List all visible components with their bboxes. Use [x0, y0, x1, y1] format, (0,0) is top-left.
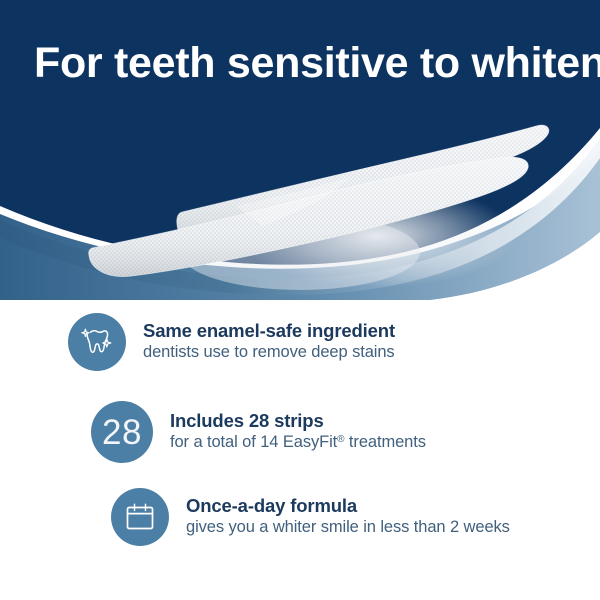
feature-title: Includes 28 strips: [170, 410, 426, 431]
hero-panel: For teeth sensitive to whitening: [0, 0, 600, 300]
tooth-sparkle-icon: [77, 322, 117, 362]
feature-text-block: Includes 28 strips for a total of 14 Eas…: [170, 410, 426, 454]
feature-title: Same enamel-safe ingredient: [143, 320, 395, 341]
feature-row: 28 Includes 28 strips for a total of 14 …: [91, 401, 426, 463]
calendar-icon-badge: [111, 488, 169, 546]
feature-row: Same enamel-safe ingredient dentists use…: [68, 313, 395, 371]
feature-text-block: Once-a-day formula gives you a whiter sm…: [186, 495, 510, 539]
feature-subtitle-pre: for a total of 14 EasyFit: [170, 433, 337, 451]
tooth-sparkle-icon-badge: [68, 313, 126, 371]
page-title: For teeth sensitive to whitening: [34, 40, 574, 86]
feature-subtitle: for a total of 14 EasyFit® treatments: [170, 432, 426, 452]
feature-subtitle-post: treatments: [344, 433, 425, 451]
strip-count-value: 28: [102, 415, 142, 450]
calendar-icon: [122, 499, 158, 535]
feature-title: Once-a-day formula: [186, 495, 510, 516]
product-feature-graphic: For teeth sensitive to whitening Same en…: [0, 0, 600, 600]
strip-count-badge: 28: [91, 401, 153, 463]
feature-row: Once-a-day formula gives you a whiter sm…: [111, 488, 510, 546]
feature-subtitle: dentists use to remove deep stains: [143, 342, 395, 362]
feature-text-block: Same enamel-safe ingredient dentists use…: [143, 320, 395, 364]
feature-subtitle: gives you a whiter smile in less than 2 …: [186, 517, 510, 537]
